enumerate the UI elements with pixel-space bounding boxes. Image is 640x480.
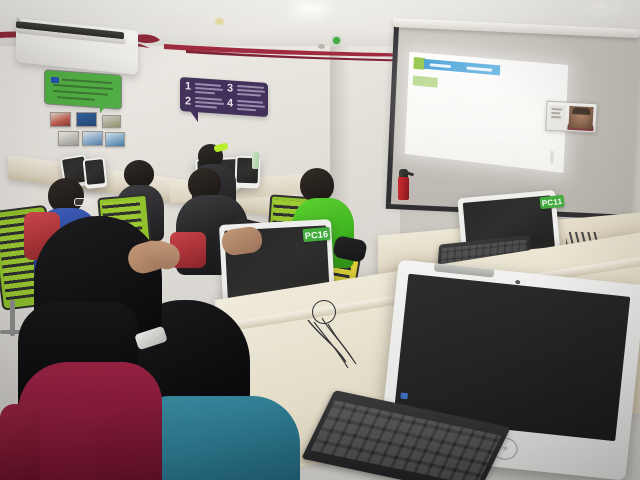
fire-extinguisher — [398, 176, 409, 200]
slide-subheader-chip — [413, 76, 438, 88]
picture-card — [82, 131, 103, 146]
student-head — [300, 168, 334, 202]
desk-cables — [300, 318, 370, 378]
thumbnail-side-panel — [549, 105, 566, 122]
pc-label-pc16: PC16 — [302, 227, 330, 242]
picture-card — [58, 131, 79, 146]
green-speech-bubble-poster — [44, 69, 122, 109]
pc-label-pc11: PC11 — [539, 195, 564, 209]
poster-number-3: 3 — [227, 83, 233, 94]
student-head — [124, 160, 154, 188]
projector-screen — [386, 26, 640, 215]
poster-number-2: 2 — [185, 96, 191, 107]
poster-number-4: 4 — [227, 98, 233, 109]
purple-bubble-tail — [190, 111, 198, 123]
ceiling-light-2-icon — [586, 0, 616, 11]
water-bottle — [252, 152, 259, 169]
webcam-icon — [515, 280, 520, 285]
glasses-icon — [74, 198, 94, 206]
picture-card — [105, 132, 125, 147]
projected-slide — [405, 52, 568, 173]
classroom-photo: 1 2 3 4 — [0, 0, 640, 480]
picture-card — [102, 115, 121, 128]
picture-cards-grid — [46, 110, 122, 150]
yellow-wall-dot-icon — [215, 18, 224, 25]
video-call-thumbnail — [545, 101, 598, 134]
participant-face — [568, 106, 593, 129]
picture-card — [50, 112, 71, 127]
participant-hair — [572, 107, 590, 115]
power-led-icon — [400, 393, 408, 400]
monitor-back-left-2 — [82, 157, 107, 189]
poster-badge-icon — [51, 77, 59, 84]
ceiling-light-icon — [293, 2, 327, 15]
slide-header-bar — [424, 59, 500, 76]
garment-corner — [0, 404, 40, 480]
slide-side-marker — [550, 151, 554, 164]
poster-number-1: 1 — [185, 81, 191, 92]
picture-card — [76, 112, 97, 127]
